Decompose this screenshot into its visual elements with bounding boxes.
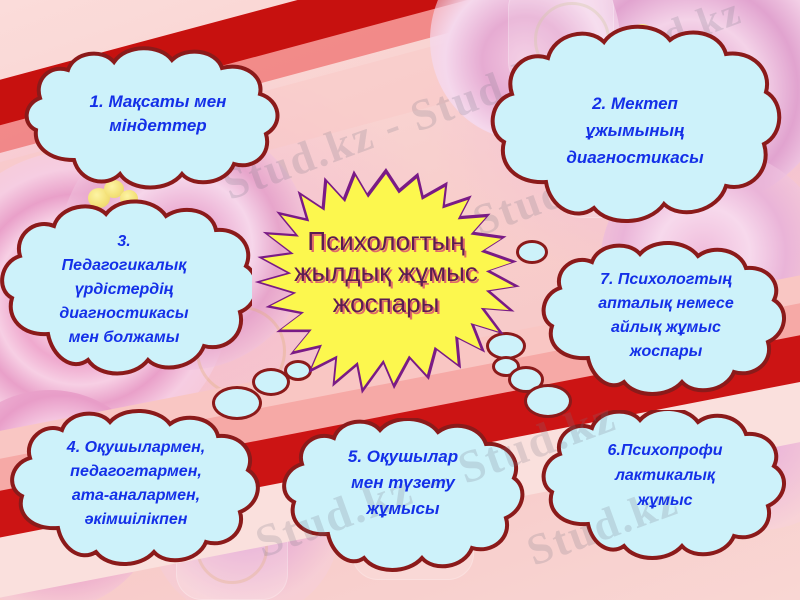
cloud-node-7[interactable]: 7. Психологтың апталық немесе айлық жұмы… bbox=[536, 240, 796, 400]
center-starburst[interactable]: Психологтың жылдық жұмыс жоспары bbox=[252, 168, 520, 396]
cloud-node-2[interactable]: 2. Мектеп ұжымының диагностикасы bbox=[484, 22, 786, 240]
cloud-label: 2. Мектеп ұжымының диагностикасы bbox=[484, 90, 786, 171]
presentation-slide: Stud.kz Stud.kz - Stud.kz Stud.kz Stud.k… bbox=[0, 0, 800, 600]
cloud-label: 4. Оқушылармен, педагогтармен, ата-анала… bbox=[4, 436, 268, 532]
cloud-label: 5. Оқушылар мен түзету жұмысы bbox=[278, 444, 528, 522]
cloud-label: 1. Мақсаты мен міндеттер bbox=[18, 90, 298, 138]
cloud-node-3[interactable]: 3. Педагогикалық үрдістердің диагностика… bbox=[0, 196, 252, 378]
cloud-label: 6.Психопрофи лактикалық жұмыс bbox=[536, 438, 794, 513]
cloud-label: 7. Психологтың апталық немесе айлық жұмы… bbox=[536, 268, 796, 364]
center-title: Психологтың жылдық жұмыс жоспары bbox=[262, 226, 510, 319]
cloud-node-4[interactable]: 4. Оқушылармен, педагогтармен, ата-анала… bbox=[4, 408, 268, 568]
cloud-label: 3. Педагогикалық үрдістердің диагностика… bbox=[0, 230, 252, 350]
